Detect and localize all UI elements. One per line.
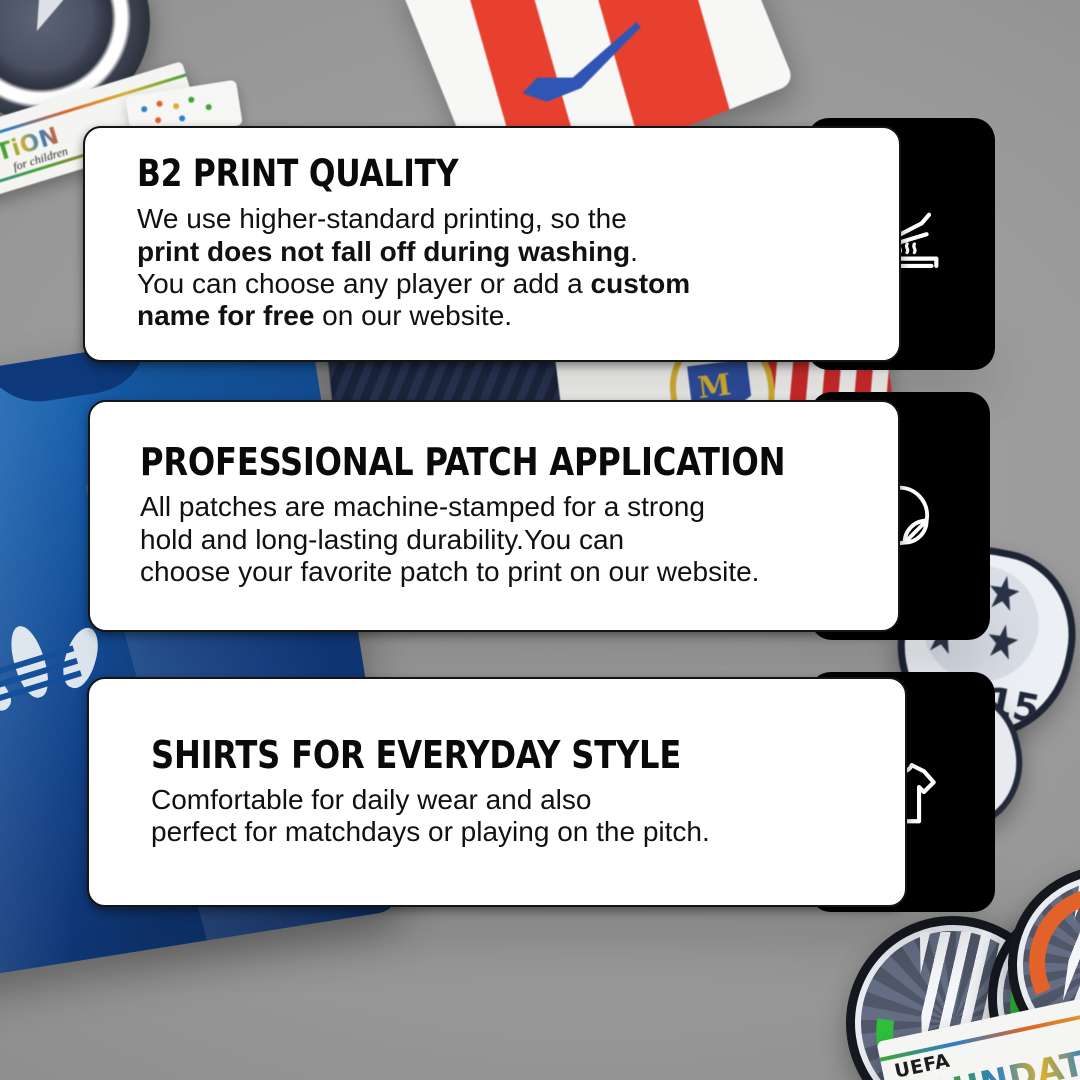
card-body-line: You can choose any player or add a custo… [137, 268, 899, 300]
card-body-line: We use higher-standard printing, so the [137, 203, 899, 235]
card-content-patch-application: PROFESSIONAL PATCH APPLICATION All patch… [88, 400, 900, 632]
card-title: SHIRTS FOR EVERYDAY STYLE [151, 736, 860, 774]
feature-card-print-quality: B2 PRINT QUALITY We use higher-standard … [83, 118, 995, 370]
card-body: We use higher-standard printing, so thep… [137, 203, 899, 333]
card-title: PROFESSIONAL PATCH APPLICATION [140, 443, 853, 481]
card-body-line: perfect for matchdays or playing on the … [151, 816, 905, 848]
card-body-line: print does not fall off during washing. [137, 236, 899, 268]
card-body: Comfortable for daily wear and alsoperfe… [151, 784, 905, 849]
card-body-line: choose your favorite patch to print on o… [140, 556, 898, 588]
card-body: All patches are machine-stamped for a st… [140, 491, 898, 588]
card-title: B2 PRINT QUALITY [137, 155, 853, 192]
card-body-line: hold and long-lasting durability.You can [140, 524, 898, 556]
feature-card-patch-application: PROFESSIONAL PATCH APPLICATION All patch… [88, 392, 990, 640]
card-body-line: All patches are machine-stamped for a st… [140, 491, 898, 523]
card-content-everyday-style: SHIRTS FOR EVERYDAY STYLE Comfortable fo… [87, 677, 907, 907]
feature-card-everyday-style: SHIRTS FOR EVERYDAY STYLE Comfortable fo… [87, 672, 995, 912]
card-content-print-quality: B2 PRINT QUALITY We use higher-standard … [83, 126, 901, 362]
card-body-line: name for free on our website. [137, 300, 899, 332]
card-body-line: Comfortable for daily wear and also [151, 784, 905, 816]
